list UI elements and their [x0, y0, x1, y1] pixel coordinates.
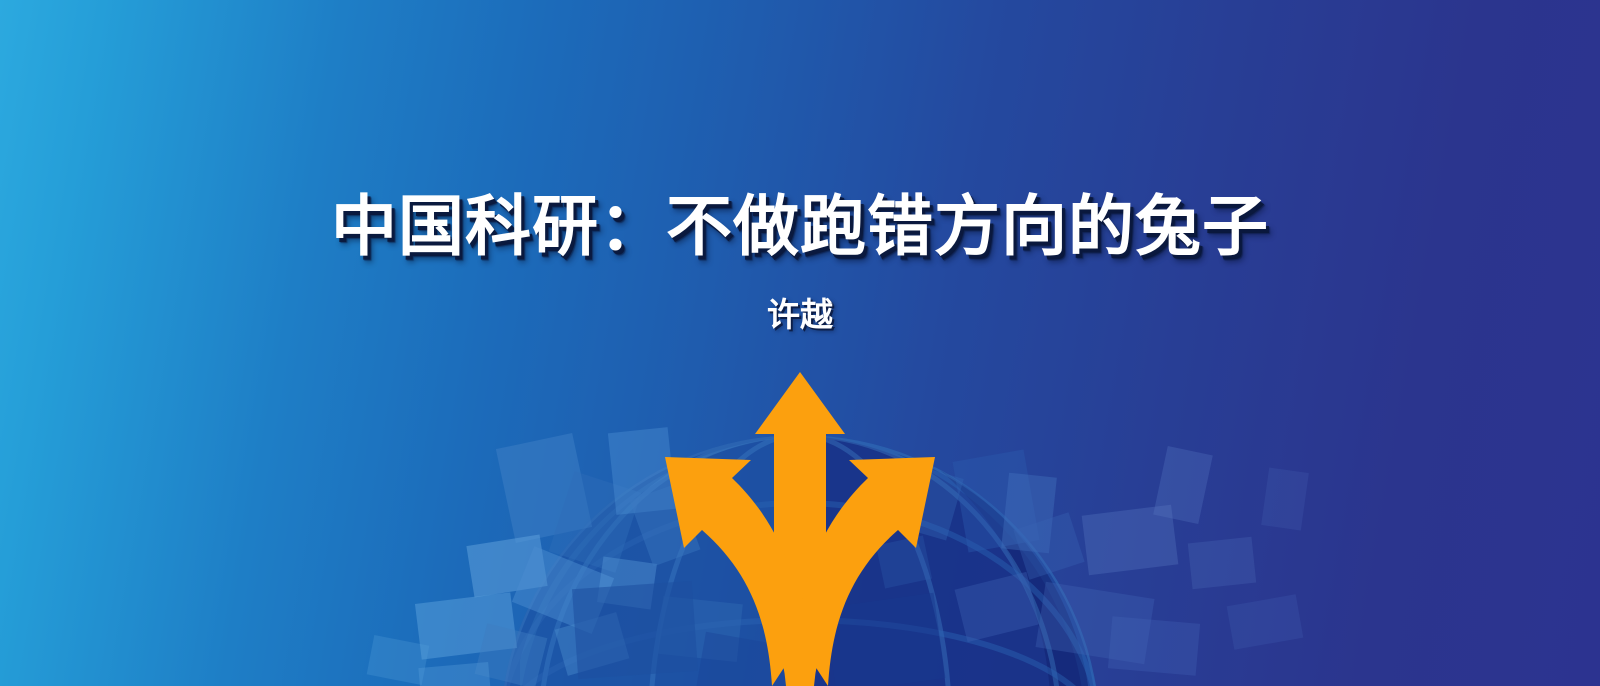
author-subtitle: 许越	[0, 290, 1600, 340]
page-title: 中国科研：不做跑错方向的兔子	[0, 178, 1600, 274]
presentation-slide: 中国科研：不做跑错方向的兔子 许越	[0, 0, 1600, 686]
three-way-arrow-icon	[560, 372, 1040, 686]
